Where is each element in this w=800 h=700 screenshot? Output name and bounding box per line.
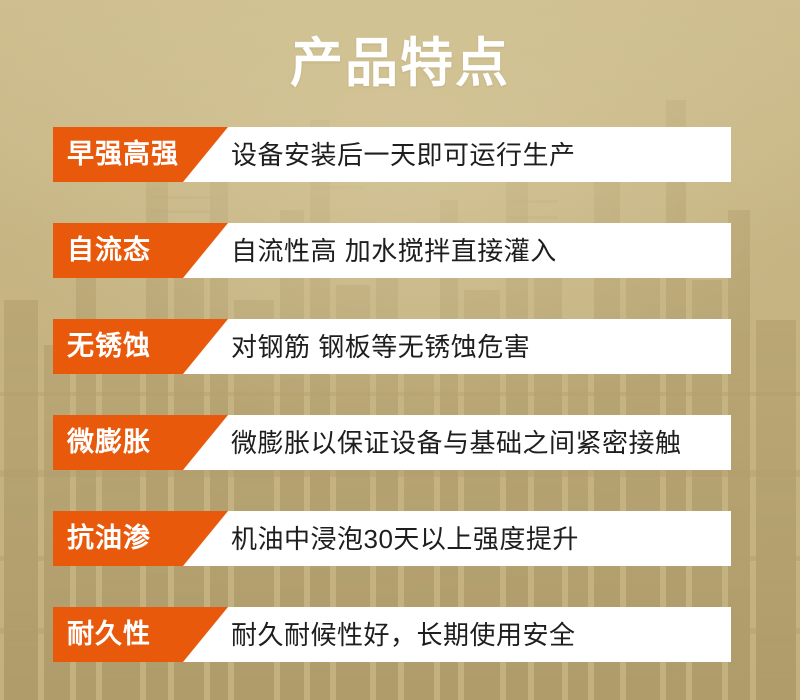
feature-row: 早强高强 设备安装后一天即可运行生产	[53, 127, 731, 182]
feature-description-text: 耐久耐候性好，长期使用安全	[231, 622, 576, 648]
feature-row: 无锈蚀 对钢筋 钢板等无锈蚀危害	[53, 319, 731, 374]
page-title: 产品特点	[0, 34, 800, 95]
feature-tag-label: 耐久性	[53, 621, 151, 648]
feature-description-text: 自流性高 加水搅拌直接灌入	[231, 238, 557, 264]
poster-content: 产品特点 早强高强 设备安装后一天即可运行生产 自流态 自流性高 加水搅拌直接灌…	[0, 0, 800, 700]
feature-tag-badge: 微膨胀	[53, 415, 228, 470]
feature-tag-label: 早强高强	[53, 141, 179, 168]
feature-list: 早强高强 设备安装后一天即可运行生产 自流态 自流性高 加水搅拌直接灌入 无锈蚀…	[53, 127, 731, 662]
feature-description: 设备安装后一天即可运行生产	[231, 127, 731, 182]
feature-description: 对钢筋 钢板等无锈蚀危害	[231, 319, 731, 374]
feature-row: 自流态 自流性高 加水搅拌直接灌入	[53, 223, 731, 278]
feature-description-text: 对钢筋 钢板等无锈蚀危害	[231, 334, 530, 360]
feature-description-text: 设备安装后一天即可运行生产	[231, 142, 576, 168]
feature-tag-badge: 早强高强	[53, 127, 228, 182]
feature-description: 耐久耐候性好，长期使用安全	[231, 607, 731, 662]
feature-row: 抗油渗 机油中浸泡30天以上强度提升	[53, 511, 731, 566]
feature-row: 微膨胀 微膨胀以保证设备与基础之间紧密接触	[53, 415, 731, 470]
feature-description: 机油中浸泡30天以上强度提升	[231, 511, 731, 566]
feature-tag-badge: 无锈蚀	[53, 319, 228, 374]
feature-description-text: 机油中浸泡30天以上强度提升	[231, 526, 579, 552]
feature-tag-badge: 自流态	[53, 223, 228, 278]
feature-tag-label: 微膨胀	[53, 429, 151, 456]
feature-tag-label: 抗油渗	[53, 525, 151, 552]
feature-row: 耐久性 耐久耐候性好，长期使用安全	[53, 607, 731, 662]
feature-description: 微膨胀以保证设备与基础之间紧密接触	[231, 415, 731, 470]
feature-description: 自流性高 加水搅拌直接灌入	[231, 223, 731, 278]
feature-tag-label: 自流态	[53, 237, 151, 264]
feature-description-text: 微膨胀以保证设备与基础之间紧密接触	[231, 430, 682, 456]
feature-tag-label: 无锈蚀	[53, 333, 151, 360]
feature-tag-badge: 抗油渗	[53, 511, 228, 566]
feature-tag-badge: 耐久性	[53, 607, 228, 662]
